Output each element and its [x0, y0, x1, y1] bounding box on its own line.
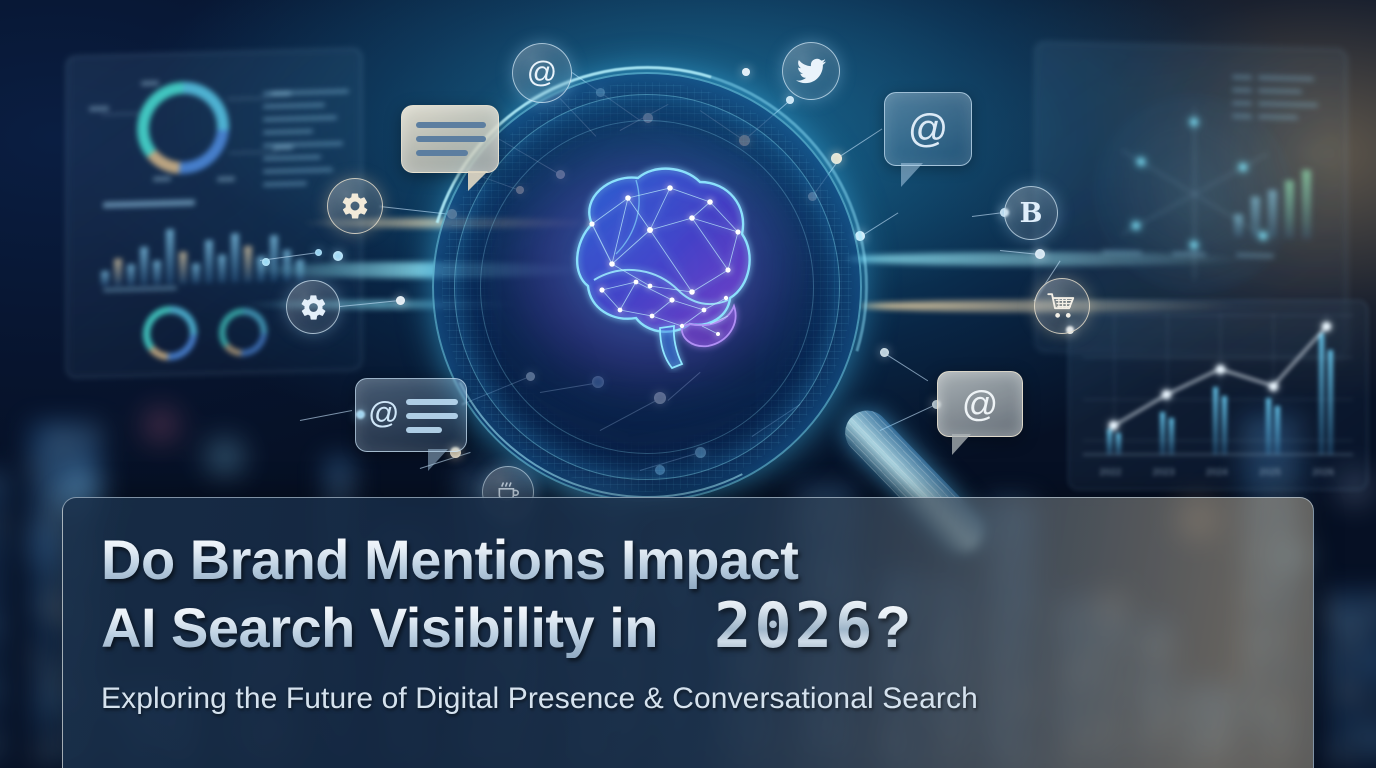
text-row [1232, 114, 1252, 118]
window-light [57, 429, 62, 435]
bubble-tail [901, 163, 923, 187]
bar [1268, 189, 1277, 238]
text-row [263, 89, 349, 95]
window-light [1329, 650, 1334, 656]
window-light [1329, 741, 1334, 747]
window-light [90, 442, 95, 448]
hero-banner: 20222023202420252026 [0, 0, 1376, 768]
page-subtitle: Exploring the Future of Digital Presence… [101, 682, 1275, 716]
window-light [1340, 624, 1345, 630]
bar [218, 255, 226, 283]
data-point [1269, 382, 1278, 391]
window-light [46, 741, 51, 747]
panel-heading [103, 286, 177, 292]
x-tick-label: 2025 [1259, 467, 1281, 477]
bar [205, 240, 213, 284]
bar [1302, 170, 1311, 239]
text-row [1102, 250, 1142, 255]
question-mark: ? [875, 594, 910, 661]
bubble-text-line [416, 122, 486, 128]
text-row [263, 181, 307, 186]
gear-glyph [340, 191, 370, 221]
text-row [1232, 88, 1252, 92]
at-message-bubble-icon[interactable]: @ [355, 378, 467, 452]
bar [114, 259, 122, 286]
window-light [79, 455, 84, 461]
bubble-tail [952, 434, 971, 455]
bokeh-light [30, 532, 52, 554]
text-row [1258, 89, 1302, 94]
window-light [68, 429, 73, 435]
at-glyph: @ [962, 386, 999, 422]
window-light [0, 624, 1, 630]
cart-glyph [1047, 292, 1077, 320]
window-light [1329, 754, 1334, 760]
window-light [0, 689, 1, 695]
window-light [1340, 611, 1345, 617]
chat-bubble-icon[interactable] [401, 105, 499, 173]
text-row [1172, 252, 1206, 257]
bar [179, 252, 187, 284]
x-tick-label: 2024 [1206, 467, 1228, 477]
bar [296, 259, 304, 280]
page-title-line-2-prefix: AI Search Visibility in [101, 598, 658, 657]
text-row [263, 141, 343, 147]
bar [127, 264, 135, 285]
window-light [90, 429, 95, 435]
bubble-text-line [406, 427, 442, 433]
mini-donut-chart [219, 308, 267, 357]
window-light [35, 689, 40, 695]
bar [1234, 214, 1243, 238]
bar [244, 246, 252, 283]
window-light [330, 468, 335, 474]
window-light [1362, 741, 1367, 747]
radar-node [1190, 118, 1198, 126]
donut-leader [101, 113, 139, 115]
window-light [35, 598, 40, 604]
building [0, 470, 6, 768]
text-row [1258, 115, 1298, 120]
shopping-cart-icon[interactable] [1034, 278, 1090, 334]
window-light [1329, 611, 1334, 617]
window-light [46, 429, 51, 435]
window-light [46, 494, 51, 500]
window-light [1351, 624, 1356, 630]
window-light [0, 481, 1, 487]
at-message-bubble-icon[interactable]: @ [884, 92, 972, 166]
text-row [263, 129, 313, 134]
mini-donut-chart [143, 305, 197, 361]
window-light [1340, 650, 1345, 656]
bar [140, 246, 148, 285]
page-title-line-1: Do Brand Mentions Impact [101, 530, 1275, 589]
text-row [1258, 102, 1318, 107]
window-light [35, 650, 40, 656]
twitter-bird-icon[interactable] [782, 42, 840, 100]
bar [153, 261, 161, 285]
window-light [1362, 624, 1367, 630]
bokeh-light [148, 412, 174, 438]
window-light [46, 455, 51, 461]
window-light [1362, 728, 1367, 734]
bubble-text-line [416, 150, 468, 156]
page-title-line-2: AI Search Visibility in 2026 ? [101, 589, 1275, 662]
network-node [315, 249, 322, 256]
window-light [1351, 637, 1356, 643]
bubble-tail [428, 449, 448, 471]
window-light [1362, 663, 1367, 669]
data-point [1216, 365, 1225, 374]
window-light [46, 598, 51, 604]
radar-spoke [1194, 194, 1195, 278]
gear-glyph [299, 293, 328, 322]
window-light [46, 481, 51, 487]
bar [166, 230, 174, 285]
x-tick-label: 2022 [1100, 467, 1122, 477]
network-node [880, 348, 889, 357]
window-light [90, 468, 95, 474]
window-light [1329, 663, 1334, 669]
at-glyph: @ [527, 58, 557, 88]
window-light [46, 689, 51, 695]
window-light [57, 455, 62, 461]
brand-b-logo-icon[interactable]: B [1004, 186, 1058, 240]
bubble-text-line [406, 413, 458, 419]
window-light [35, 754, 40, 760]
bar [101, 271, 109, 287]
bar-chart [1234, 157, 1334, 239]
window-light [0, 741, 1, 747]
chart-label [141, 81, 159, 87]
bar [1251, 197, 1260, 238]
at-glyph: @ [908, 109, 949, 149]
bar [231, 233, 239, 282]
window-light [1329, 676, 1334, 682]
x-tick-label: 2023 [1153, 467, 1175, 477]
gear-icon[interactable] [286, 280, 340, 334]
window-light [35, 520, 40, 526]
panel-heading [103, 200, 195, 209]
window-light [1362, 611, 1367, 617]
text-row [263, 168, 333, 174]
panel-text-block [1232, 75, 1338, 148]
window-light [46, 702, 51, 708]
window-light [68, 442, 73, 448]
chart-label [217, 176, 235, 182]
window-light [341, 481, 346, 487]
window-light [57, 442, 62, 448]
window-light [35, 468, 40, 474]
window-light [35, 715, 40, 721]
text-row [263, 103, 325, 109]
brand-b-glyph: B [1020, 198, 1043, 229]
window-light [1351, 689, 1356, 695]
polygonal-ai-brain [532, 158, 772, 373]
year-display: 2026 [714, 589, 875, 662]
text-row [263, 155, 321, 161]
trend-chart-panel: 20222023202420252026 [1068, 300, 1368, 490]
bar [192, 264, 200, 284]
text-row [1258, 76, 1314, 81]
network-node [1035, 249, 1045, 259]
text-row [1232, 75, 1252, 79]
chart-label [89, 106, 109, 112]
at-message-bubble-icon[interactable]: @ [937, 371, 1023, 437]
bar-chart [101, 206, 313, 286]
window-light [35, 663, 40, 669]
window-light [1329, 702, 1334, 708]
window-light [1351, 702, 1356, 708]
network-node [262, 258, 270, 266]
bubble-text-line [406, 399, 458, 405]
window-light [35, 559, 40, 565]
at-glyph: @ [368, 397, 399, 428]
window-light [35, 455, 40, 461]
bubble-text-line [416, 136, 486, 142]
bar [1285, 181, 1294, 239]
window-light [1351, 676, 1356, 682]
radar-node [1137, 158, 1145, 166]
window-light [1351, 754, 1356, 760]
window-light [1340, 754, 1345, 760]
twitter-bird-glyph [796, 58, 826, 84]
window-light [46, 520, 51, 526]
title-card: Do Brand Mentions Impact AI Search Visib… [62, 497, 1314, 768]
x-tick-label: 2026 [1312, 467, 1334, 477]
radar-node [1190, 241, 1198, 249]
at-sign-icon[interactable]: @ [512, 43, 572, 103]
bokeh-light [210, 442, 240, 472]
network-node [396, 296, 405, 305]
window-light [46, 611, 51, 617]
bubble-tail [468, 171, 488, 191]
window-light [46, 676, 51, 682]
network-node [333, 251, 343, 261]
window-light [1329, 598, 1334, 604]
window-light [1340, 689, 1345, 695]
window-light [341, 468, 346, 474]
text-row [263, 116, 337, 122]
window-light [1362, 650, 1367, 656]
chart-label [153, 176, 171, 182]
gear-icon[interactable] [327, 178, 383, 234]
text-row [1232, 101, 1252, 105]
window-light [0, 520, 1, 526]
window-light [1351, 728, 1356, 734]
bar [283, 250, 291, 281]
growth-line-chart: 20222023202420252026 [1069, 301, 1367, 489]
donut-chart [137, 81, 229, 176]
window-light [46, 572, 51, 578]
window-light [1329, 624, 1334, 630]
data-point [1322, 322, 1331, 331]
window-light [1340, 728, 1345, 734]
